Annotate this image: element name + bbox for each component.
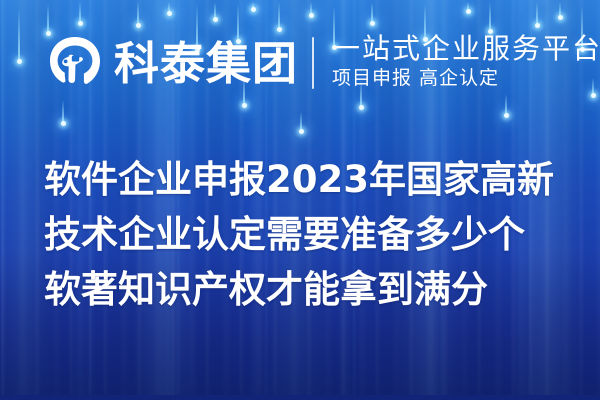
headline-text: 软件企业申报2023年国家高新技术企业认定需要准备多少个软著知识产权才能拿到满分	[44, 152, 556, 317]
tagline-primary: 一站式企业服务平台	[332, 34, 600, 64]
ketai-group-logo-icon	[46, 34, 104, 92]
tagline-secondary: 项目申报 高企认定	[332, 66, 600, 92]
brand-tagline: 一站式企业服务平台 项目申报 高企认定	[332, 34, 600, 92]
brand-divider	[312, 37, 314, 89]
brand-name: 科泰集团	[114, 41, 298, 86]
brand-header: 科泰集团 一站式企业服务平台 项目申报 高企认定	[46, 30, 600, 96]
bottom-accent-bar	[0, 395, 600, 400]
promo-banner: 科泰集团 一站式企业服务平台 项目申报 高企认定 软件企业申报2023年国家高新…	[0, 0, 600, 400]
